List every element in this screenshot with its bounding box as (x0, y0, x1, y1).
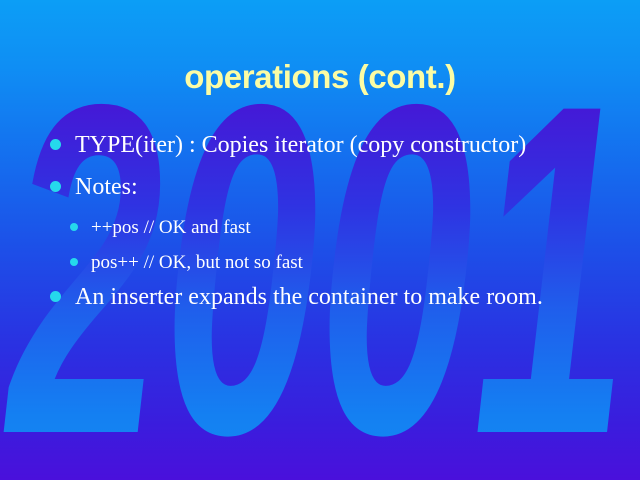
sub-bullet-item: ++pos // OK and fast (0, 215, 640, 248)
bullet-marker-icon (50, 181, 61, 192)
bullet-text: An inserter expands the container to mak… (75, 282, 543, 312)
bullet-item: An inserter expands the container to mak… (0, 282, 640, 322)
bullet-text: TYPE(iter) : Copies iterator (copy const… (75, 130, 526, 160)
bullet-marker-icon (70, 258, 78, 266)
sub-bullet-text: ++pos // OK and fast (91, 215, 251, 240)
bullet-marker-icon (50, 291, 61, 302)
bullet-marker-icon (50, 139, 61, 150)
sub-bullet-item: pos++ // OK, but not so fast (0, 250, 640, 283)
sub-bullet-text: pos++ // OK, but not so fast (91, 250, 303, 275)
bullet-text: Notes: (75, 172, 138, 202)
bullet-item: Notes: (0, 172, 640, 212)
bullet-item: TYPE(iter) : Copies iterator (copy const… (0, 130, 640, 170)
slide-title: operations (cont.) (0, 58, 640, 96)
bullet-marker-icon (70, 223, 78, 231)
presentation-slide: 2001 operations (cont.) TYPE(iter) : Cop… (0, 0, 640, 480)
